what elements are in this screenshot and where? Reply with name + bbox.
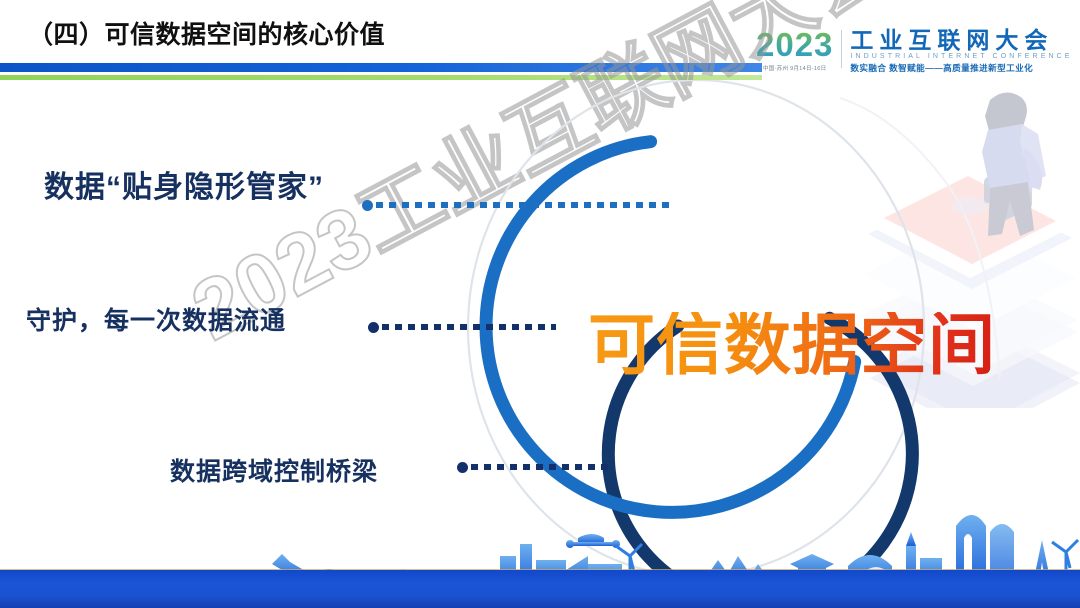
bullet-label-1: 数据“贴身隐形管家” [44,162,324,206]
logo-name-en: INDUSTRIAL INTERNET CONFERENCE [850,53,1072,60]
slide-canvas: （四）可信数据空间的核心价值 2023 中国·苏州 9月14日-16日 工业互联… [0,0,1080,608]
connector-dot-1 [362,200,373,211]
connector-dot-3 [457,462,468,473]
connector-line-1 [376,202,672,208]
bullet-label-2: 守护，每一次数据流通 [26,301,286,337]
logo-name-cn: 工业互联网大会 [850,28,1072,52]
logo-year: 2023 [756,28,833,61]
bullet-label-3: 数据跨域控制桥梁 [170,452,378,488]
connector-3 [457,462,609,472]
connector-2 [368,322,556,332]
logo-divider [841,30,842,68]
connector-line-2 [382,324,556,330]
logo-year-block: 2023 中国·苏州 9月14日-16日 [756,28,841,72]
logo-name-block: 工业互联网大会 INDUSTRIAL INTERNET CONFERENCE 数… [850,28,1072,74]
logo-date: 中国·苏州 9月14日-16日 [763,64,827,72]
logo-tagline: 数实融合 数智赋能——高质量推进新型工业化 [850,62,1072,74]
center-headline: 可信数据空间 [588,312,996,379]
conference-logo: 2023 中国·苏州 9月14日-16日 工业互联网大会 INDUSTRIAL … [756,28,1076,78]
connector-1 [362,200,672,210]
sea-band [0,570,1080,608]
connector-dot-2 [368,322,379,333]
header-rule-blue [0,63,762,72]
page-title: （四）可信数据空间的核心价值 [28,15,385,51]
connector-line-3 [471,464,609,470]
